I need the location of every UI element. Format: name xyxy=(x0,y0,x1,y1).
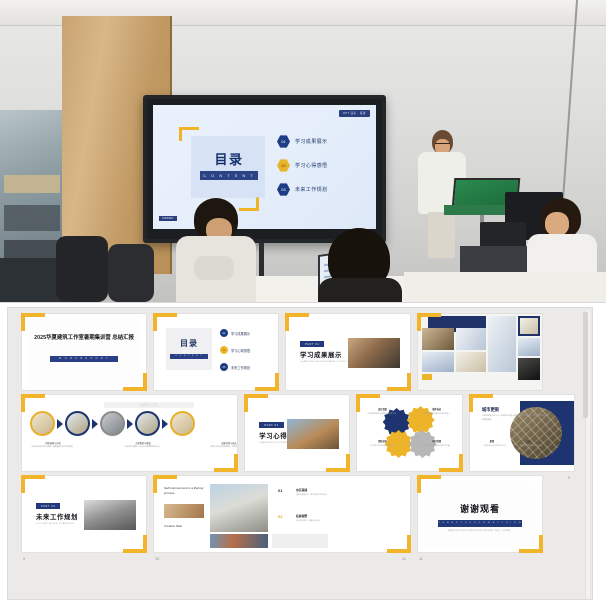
presenter-shorts xyxy=(428,212,455,258)
person-right-face xyxy=(545,212,569,236)
slide-grid-canvas: 2025华夏建筑工作室暑期集训营 总结汇报 W O R K R E P O R … xyxy=(7,307,593,600)
slide-grid: 2025华夏建筑工作室暑期集训营 总结汇报 W O R K R E P O R … xyxy=(22,314,574,557)
corner-bracket-br-icon xyxy=(255,373,279,391)
slide-10-blank-panel xyxy=(272,534,328,548)
slide-3-photo xyxy=(348,338,400,368)
process-arrow-icon xyxy=(162,419,168,429)
slide-2-heading-sub: C O N T E N T xyxy=(170,354,208,359)
gear-block-body: 分工协作中学会沟通与任务拆解。 xyxy=(362,445,402,448)
corner-bracket-tl-icon xyxy=(417,475,441,493)
slide-2-agenda: 01 学习成果展示 02 学习心得感悟 03 未来工作规划 xyxy=(220,329,250,380)
agenda-label: 未来工作规划 xyxy=(231,365,250,370)
classroom-photo: PPT 演示 · 投屏 目录 C O N T E N T 01 学习成果展示 0… xyxy=(0,0,606,302)
slide-cell-11[interactable]: 谢谢观看 T H A N K Y O U F O R W A T C H I N… xyxy=(418,476,542,552)
gear-block-title: 团队协作 xyxy=(362,439,402,443)
slide-3-title: 学习成果展示 xyxy=(300,350,342,359)
slide-cell-9[interactable]: PART 03 未来工作规划 FUTURE WORK PLANNING 9 xyxy=(22,476,146,552)
process-body: 结合任务书要求，进行多轮草图推演与比选。 xyxy=(121,446,165,449)
office-chair-2 xyxy=(108,244,154,302)
collage-tile xyxy=(422,352,454,372)
slide-row-1: 2025华夏建筑工作室暑期集训营 总结汇报 W O R K R E P O R … xyxy=(22,314,574,390)
agenda-number: 03 xyxy=(220,363,228,371)
slide-8-subpoint-body: 梳理沿街功能与公共空间分布。 xyxy=(520,445,554,448)
process-circle xyxy=(30,411,55,436)
slide-10-photo-c xyxy=(210,534,268,548)
corner-bracket-tl-icon xyxy=(356,394,380,412)
gear-block-title: 时间管理 xyxy=(417,439,457,443)
slide-agenda-list: 01 学习成果展示 02 学习心得感悟 03 未来工作规划 xyxy=(277,135,376,207)
slide-thumb-6[interactable]: PART 02 学习心得感悟 LEARNING EXPERIENCE AND F… xyxy=(245,395,349,471)
corner-bracket-br-icon xyxy=(214,454,238,472)
agenda-label: 学习成果展示 xyxy=(231,331,250,336)
process-caption: 场地调研与分析 xyxy=(32,441,74,445)
slide-row-2: 成果展示流程 xyxy=(22,395,574,471)
gear-block-body: 按节点推进，合理分配各阶段工作量。 xyxy=(417,445,457,448)
process-caption: 成果深化与表达 xyxy=(208,441,237,445)
agenda-label: 学习成果展示 xyxy=(295,138,327,145)
corner-bracket-tl-icon xyxy=(417,313,441,331)
agenda-label: 学习心得感悟 xyxy=(231,348,250,353)
agenda-item: 01 学习成果展示 xyxy=(277,135,376,148)
gear-block-title: 软件表达 xyxy=(417,407,457,411)
person-left-arms xyxy=(194,256,234,280)
slide-thumb-10[interactable]: Self-improvement is a lifelong process. … xyxy=(154,476,410,552)
slide-number-right: 11 xyxy=(402,557,406,561)
process-arrow-icon xyxy=(92,419,98,429)
slide-11-bar: T H A N K Y O U F O R W A T C H I N G xyxy=(438,520,522,527)
collage-tile xyxy=(456,352,486,372)
lab-shelf xyxy=(4,175,60,193)
agenda-label: 未来工作规划 xyxy=(295,186,327,193)
slide-8-subpoint-title: 业态 xyxy=(526,439,530,443)
slide-cell-4[interactable]: 4 xyxy=(418,314,542,390)
collage-tile xyxy=(518,316,540,336)
slide-cell-8[interactable]: 城市更新 以城市肌理为切入点，研究街区尺度与建筑密度之间的关系，结合调研数据提出… xyxy=(470,395,574,471)
slide-9-subtitle: FUTURE WORK PLANNING xyxy=(36,523,74,525)
slide-canvas-10[interactable]: Self-improvement is a lifelong process. … xyxy=(154,476,410,552)
slide-thumb-9[interactable]: PART 03 未来工作规划 FUTURE WORK PLANNING xyxy=(22,476,146,552)
agenda-label: 学习心得感悟 xyxy=(295,162,327,169)
slide-3-subtitle: LEARNING ACHIEVEMENT DISPLAY xyxy=(300,361,351,363)
process-circle xyxy=(135,411,160,436)
slide-10-credit: Creative Side xyxy=(164,524,208,529)
slide-10-item-number: 01 xyxy=(278,488,282,493)
slide-10-photo-b xyxy=(210,484,268,532)
agenda-item: 03 未来工作规划 xyxy=(277,183,376,196)
slide-thumb-7[interactable]: 设计思维 从宏观到微观建立系统的设计思考方法。 团队协作 分工协作中学会沟通与任… xyxy=(357,395,461,471)
slide-canvas-5[interactable]: 成果展示流程 xyxy=(22,395,237,471)
slide-8-subpoint-body: 研究街巷尺度与院落组织方式。 xyxy=(484,445,518,448)
corner-bracket-br-icon xyxy=(387,373,411,391)
slide-8-body: 以城市肌理为切入点，研究街区尺度与建筑密度之间的关系，结合调研数据提出更新策略。 xyxy=(482,415,548,422)
agenda-number: 01 xyxy=(220,329,228,337)
corner-bracket-tl-icon xyxy=(153,475,177,493)
screen-corner-chip: CONTENT xyxy=(159,216,177,221)
slide-number: 9 xyxy=(23,557,25,561)
process-arrow-icon xyxy=(57,419,63,429)
agenda-number: 02 xyxy=(277,159,290,172)
slide-6-photo xyxy=(287,419,339,449)
presenter-glasses xyxy=(435,143,450,146)
audience-desk-right xyxy=(404,272,606,302)
slide-sorter-pane: 2025华夏建筑工作室暑期集训营 总结汇报 W O R K R E P O R … xyxy=(0,302,606,606)
slide-9-photo xyxy=(84,500,136,530)
vertical-scrollbar-thumb[interactable] xyxy=(583,312,588,418)
corner-bracket-tl-icon xyxy=(21,394,45,412)
slide-thumb-5[interactable]: 成果展示流程 xyxy=(22,395,237,471)
corner-bracket-br-icon xyxy=(439,454,463,472)
agenda-item: 02 学习心得感悟 xyxy=(277,159,376,172)
slide-8-subpoint-title: 肌理 xyxy=(490,439,494,443)
slide-cell-6[interactable]: PART 02 学习心得感悟 LEARNING EXPERIENCE AND F… xyxy=(245,395,349,471)
slide-2-heading: 目录 xyxy=(168,338,210,349)
slide-2-title-panel xyxy=(166,328,212,370)
slide-heading: 目录 xyxy=(205,149,253,168)
process-arrow-icon xyxy=(127,419,133,429)
process-body: 完成平立剖与效果图绘制，形成完整图纸成果。 xyxy=(207,446,237,449)
collage-tile xyxy=(488,316,516,372)
process-circle xyxy=(170,411,195,436)
slide-number-right: 9 xyxy=(568,476,570,480)
slide-10-item-title: 夯实基础 xyxy=(296,488,307,492)
agenda-number: 02 xyxy=(220,346,228,354)
seated-person-left xyxy=(176,198,256,302)
slide-11-subtitle: 感谢各位老师与同学在本次集训营中的悉心指导与陪伴，期待下一次再相聚。 xyxy=(434,530,526,534)
collage-caption-chip xyxy=(422,374,432,380)
slide-10-item-body: 关注前沿案例，积累设计素材。 xyxy=(296,520,336,523)
agenda-number: 03 xyxy=(277,183,290,196)
slide-cell-3[interactable]: PART 01 学习成果展示 LEARNING ACHIEVEMENT DISP… xyxy=(286,314,410,390)
slide-thumb-11[interactable]: 谢谢观看 T H A N K Y O U F O R W A T C H I N… xyxy=(418,476,542,552)
slide-thumb-4[interactable] xyxy=(418,314,542,390)
gear-text-block: 软件表达 熟练运用制图与渲染工具表达构想。 xyxy=(417,407,457,416)
corner-bracket-tl-icon xyxy=(469,394,493,412)
corner-bracket-br-icon xyxy=(519,535,543,553)
slide-thumb-2[interactable]: 目录 C O N T E N T 01 学习成果展示 02 学习心得感悟 xyxy=(154,314,278,390)
lab-equipment-2 xyxy=(4,240,60,260)
slide-3-part-tag: PART 01 xyxy=(300,341,324,347)
corner-bracket-tl-icon xyxy=(21,475,45,493)
slide-1-subtitle-bar: W O R K R E P O R T xyxy=(50,356,118,362)
corner-bracket-tl-icon xyxy=(21,313,45,331)
slide-10-item-title: 拓展视野 xyxy=(296,514,307,518)
process-body: 对场地周边环境进行踏勘，整理基础资料与现状图纸。 xyxy=(31,446,75,449)
slide-10-item-body: 持续打磨基本功，强化制图与表达能力。 xyxy=(296,494,336,497)
collage-tile xyxy=(422,328,454,350)
slide-6-part-tag: PART 02 xyxy=(259,422,283,428)
corner-bracket-tl-icon xyxy=(153,313,177,331)
person-center-shirt xyxy=(318,278,402,302)
corner-bracket-tl-icon xyxy=(285,313,309,331)
slide-cell-7[interactable]: 设计思维 从宏观到微观建立系统的设计思考方法。 团队协作 分工协作中学会沟通与任… xyxy=(357,395,461,471)
office-chair-1 xyxy=(56,236,108,302)
lab-equipment xyxy=(4,205,60,231)
agenda-item: 02 学习心得感悟 xyxy=(220,346,250,354)
slide-cell-10[interactable]: Self-improvement is a lifelong process. … xyxy=(154,476,410,552)
slide-cell-5[interactable]: 成果展示流程 xyxy=(22,395,237,471)
gear-block-body: 从宏观到微观建立系统的设计思考方法。 xyxy=(362,413,402,416)
collage-tile xyxy=(518,338,540,356)
slide-10-photo-a xyxy=(164,504,204,518)
gear-text-block: 时间管理 按节点推进，合理分配各阶段工作量。 xyxy=(417,439,457,448)
agenda-item: 03 未来工作规划 xyxy=(220,363,250,371)
slide-9-title: 未来工作规划 xyxy=(36,512,78,521)
slide-heading-sub: C O N T E N T xyxy=(200,171,258,180)
slide-1-title: 2025华夏建筑工作室暑期集训营 总结汇报 xyxy=(32,334,136,342)
process-circle xyxy=(65,411,90,436)
corner-bracket-tl-icon xyxy=(244,394,268,412)
agenda-number: 01 xyxy=(277,135,290,148)
process-caption: 方案构思与推敲 xyxy=(122,441,164,445)
corner-bracket-br-icon xyxy=(123,535,147,553)
slide-cell-2[interactable]: 目录 C O N T E N T 01 学习成果展示 02 学习心得感悟 xyxy=(154,314,278,390)
slide-9-part-tag: PART 03 xyxy=(36,503,60,509)
collage-tile xyxy=(518,358,540,380)
slide-number: 11 xyxy=(419,557,423,561)
slide-thumb-3[interactable]: PART 01 学习成果展示 LEARNING ACHIEVEMENT DISP… xyxy=(286,314,410,390)
slide-number: 10 xyxy=(155,557,159,561)
corner-bracket-br-icon xyxy=(387,535,411,553)
slide-thumb-1[interactable]: 2025华夏建筑工作室暑期集训营 总结汇报 W O R K R E P O R … xyxy=(22,314,146,390)
slide-5-process-row xyxy=(30,411,195,436)
collage-tile xyxy=(456,328,486,350)
slide-cell-1[interactable]: 2025华夏建筑工作室暑期集训营 总结汇报 W O R K R E P O R … xyxy=(22,314,146,390)
vertical-scrollbar-track[interactable] xyxy=(585,310,590,599)
corner-bracket-br-icon xyxy=(123,373,147,391)
slide-11-title: 谢谢观看 xyxy=(418,502,542,515)
lab-bench xyxy=(0,258,64,302)
slide-thumb-8[interactable]: 城市更新 以城市肌理为切入点，研究街区尺度与建筑密度之间的关系，结合调研数据提出… xyxy=(470,395,574,471)
gear-text-block: 团队协作 分工协作中学会沟通与任务拆解。 xyxy=(362,439,402,448)
seated-person-center xyxy=(318,228,402,302)
slide-10-item-number: 02 xyxy=(278,514,282,519)
process-circle xyxy=(100,411,125,436)
agenda-item: 01 学习成果展示 xyxy=(220,329,250,337)
screen-status-badge: PPT 演示 · 投屏 xyxy=(339,110,370,117)
slide-row-3: PART 03 未来工作规划 FUTURE WORK PLANNING 9 Se xyxy=(22,476,574,552)
slide-5-heading-band: 成果展示流程 xyxy=(104,402,194,408)
gear-block-body: 熟练运用制图与渲染工具表达构想。 xyxy=(417,413,457,416)
corner-bracket-br-icon xyxy=(326,454,350,472)
